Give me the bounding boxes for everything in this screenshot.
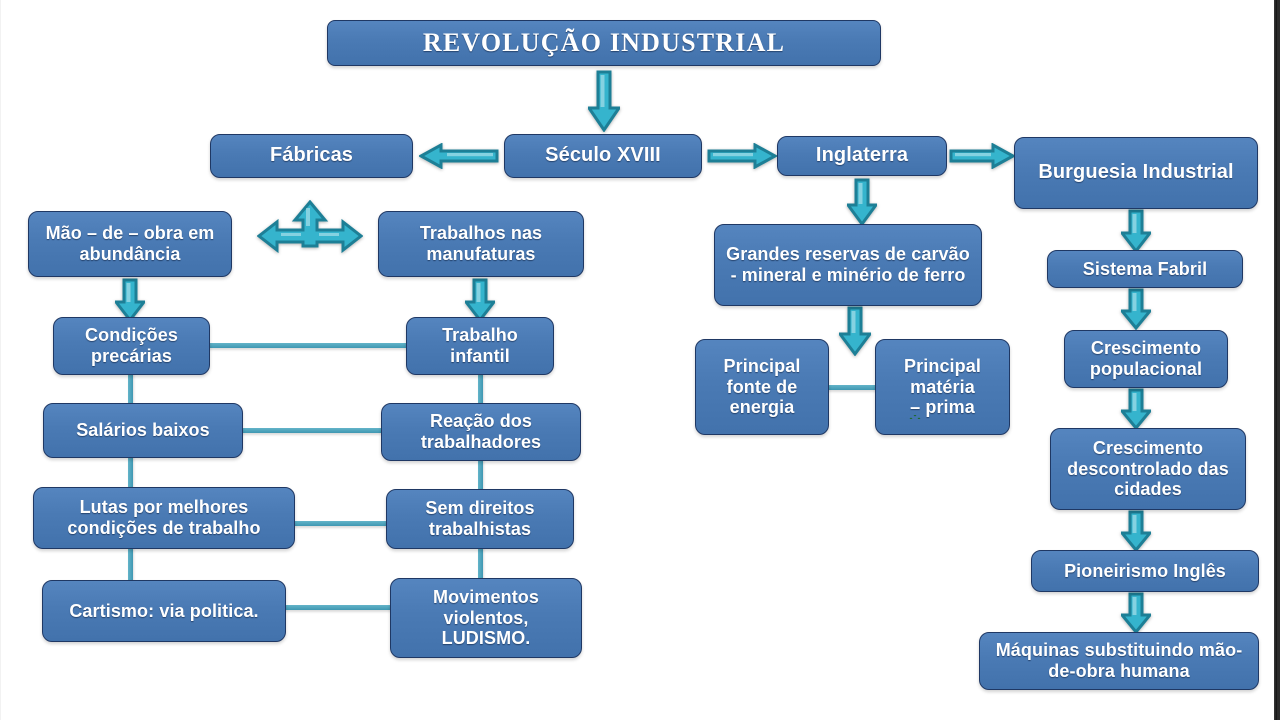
arrow-burguesia-to-sistema bbox=[1121, 209, 1151, 253]
node-sem-direitos-label: Sem direitos trabalhistas bbox=[393, 498, 567, 540]
materia-dash-spellcheck: – bbox=[910, 397, 920, 418]
node-cartismo-label: Cartismo: via politica. bbox=[69, 601, 258, 622]
node-crescimento-populacional[interactable]: Crescimento populacional bbox=[1064, 330, 1228, 388]
node-crescimento-populacional-label: Crescimento populacional bbox=[1071, 338, 1221, 380]
node-title[interactable]: REVOLUÇÃO INDUSTRIAL bbox=[327, 20, 881, 66]
node-crescimento-descontrolado[interactable]: Crescimento descontrolado das cidades bbox=[1050, 428, 1246, 510]
node-principal-materia-prima-label: Principal matéria – prima bbox=[904, 356, 981, 419]
line-salarios-to-lutas bbox=[128, 456, 133, 489]
arrow-pioneirismo-to-maquinas bbox=[1121, 592, 1151, 634]
arrow-seculo-to-fabricas bbox=[419, 143, 499, 169]
diagram-canvas: REVOLUÇÃO INDUSTRIAL Fábricas Século XVI… bbox=[0, 0, 1280, 720]
node-inglaterra-label: Inglaterra bbox=[816, 144, 908, 167]
node-trabalho-infantil[interactable]: Trabalho infantil bbox=[406, 317, 554, 375]
node-reacao-trabalhadores[interactable]: Reação dos trabalhadores bbox=[381, 403, 581, 461]
arrow-manufaturas-to-infantil bbox=[465, 278, 495, 322]
node-trabalhos-manufaturas[interactable]: Trabalhos nas manufaturas bbox=[378, 211, 584, 277]
node-condicoes-precarias-label: Condições precárias bbox=[60, 325, 203, 367]
arrow-inglaterra-to-reservas bbox=[847, 178, 877, 226]
node-seculo-xviii-label: Século XVIII bbox=[545, 144, 661, 167]
node-principal-materia-prima[interactable]: Principal matéria – prima bbox=[875, 339, 1010, 435]
materia-line-2: matéria bbox=[910, 377, 975, 397]
node-pioneirismo-ingles[interactable]: Pioneirismo Inglês bbox=[1031, 550, 1259, 592]
arrow-inglaterra-to-burguesia bbox=[949, 143, 1015, 169]
node-title-label: REVOLUÇÃO INDUSTRIAL bbox=[423, 28, 785, 58]
arrow-seculo-to-inglaterra bbox=[707, 143, 777, 169]
node-seculo-xviii[interactable]: Século XVIII bbox=[504, 134, 702, 178]
node-grandes-reservas[interactable]: Grandes reservas de carvão - mineral e m… bbox=[714, 224, 982, 306]
node-burguesia-industrial-label: Burguesia Industrial bbox=[1038, 161, 1233, 184]
node-sistema-fabril-label: Sistema Fabril bbox=[1083, 259, 1207, 280]
line-condicoes-to-infantil bbox=[206, 343, 412, 348]
node-sistema-fabril[interactable]: Sistema Fabril bbox=[1047, 250, 1243, 288]
node-trabalho-infantil-label: Trabalho infantil bbox=[413, 325, 547, 367]
node-inglaterra[interactable]: Inglaterra bbox=[777, 136, 947, 176]
node-pioneirismo-ingles-label: Pioneirismo Inglês bbox=[1064, 561, 1226, 582]
node-movimentos-violentos-label: Movimentos violentos, LUDISMO. bbox=[397, 587, 575, 650]
node-lutas-melhores-label: Lutas por melhores condições de trabalho bbox=[40, 497, 288, 539]
node-principal-fonte-energia-label: Principal fonte de energia bbox=[702, 356, 822, 419]
node-grandes-reservas-label: Grandes reservas de carvão - mineral e m… bbox=[721, 244, 975, 286]
node-salarios-baixos[interactable]: Salários baixos bbox=[43, 403, 243, 458]
arrow-crescimento-to-descontrolado bbox=[1121, 388, 1151, 430]
node-mao-de-obra-label: Mão – de – obra em abundância bbox=[35, 223, 225, 265]
arrow-mao-to-condicoes bbox=[115, 278, 145, 322]
node-lutas-melhores[interactable]: Lutas por melhores condições de trabalho bbox=[33, 487, 295, 549]
arrow-reservas-to-fonte bbox=[839, 306, 871, 356]
node-maquinas-substituindo-label: Máquinas substituindo mão-de-obra humana bbox=[986, 640, 1252, 682]
arrow-tri-directional bbox=[257, 200, 363, 266]
line-condicoes-to-salarios bbox=[128, 373, 133, 405]
line-salarios-to-reacao bbox=[239, 428, 387, 433]
node-sem-direitos[interactable]: Sem direitos trabalhistas bbox=[386, 489, 574, 549]
line-fonte-to-materia bbox=[825, 385, 879, 390]
node-salarios-baixos-label: Salários baixos bbox=[76, 420, 210, 441]
line-lutas-to-semdireitos bbox=[291, 521, 392, 526]
arrow-title-to-seculo bbox=[588, 70, 620, 132]
node-movimentos-violentos[interactable]: Movimentos violentos, LUDISMO. bbox=[390, 578, 582, 658]
line-infantil-to-reacao bbox=[478, 373, 483, 405]
line-reacao-to-semdireitos bbox=[478, 459, 483, 491]
node-principal-fonte-energia[interactable]: Principal fonte de energia bbox=[695, 339, 829, 435]
line-cartismo-to-movimentos bbox=[282, 605, 396, 610]
line-lutas-to-cartismo bbox=[128, 547, 133, 582]
node-mao-de-obra[interactable]: Mão – de – obra em abundância bbox=[28, 211, 232, 277]
arrow-descontrolado-to-pioneirismo bbox=[1121, 510, 1151, 552]
node-cartismo[interactable]: Cartismo: via politica. bbox=[42, 580, 286, 642]
node-reacao-trabalhadores-label: Reação dos trabalhadores bbox=[388, 411, 574, 453]
node-trabalhos-manufaturas-label: Trabalhos nas manufaturas bbox=[385, 223, 577, 265]
materia-line-3: prima bbox=[925, 397, 975, 417]
node-crescimento-descontrolado-label: Crescimento descontrolado das cidades bbox=[1057, 438, 1239, 501]
arrow-sistema-to-crescimento bbox=[1121, 288, 1151, 330]
node-fabricas-label: Fábricas bbox=[270, 144, 353, 167]
line-semdireitos-to-movimentos bbox=[478, 547, 483, 580]
materia-line-1: Principal bbox=[904, 356, 981, 376]
node-burguesia-industrial[interactable]: Burguesia Industrial bbox=[1014, 137, 1258, 209]
node-maquinas-substituindo[interactable]: Máquinas substituindo mão-de-obra humana bbox=[979, 632, 1259, 690]
node-fabricas[interactable]: Fábricas bbox=[210, 134, 413, 178]
node-condicoes-precarias[interactable]: Condições precárias bbox=[53, 317, 210, 375]
